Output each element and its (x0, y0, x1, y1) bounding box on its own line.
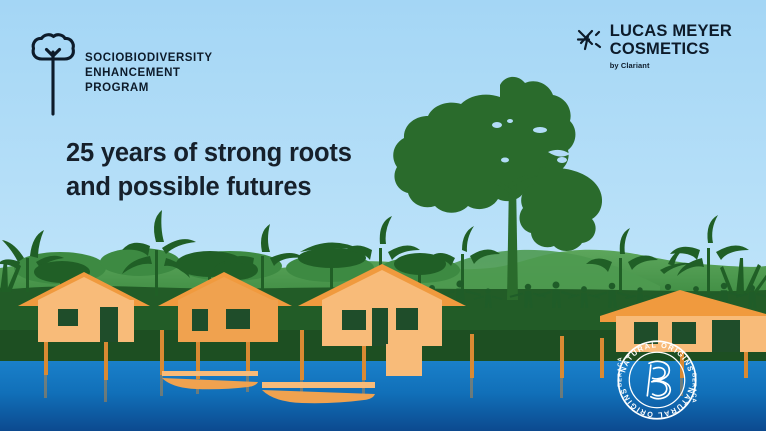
house-door (372, 308, 388, 346)
seal-bottom-text: NATURAL ORIGINS (618, 386, 695, 419)
tree-outline-icon (30, 32, 76, 121)
house-porch-column (386, 344, 422, 376)
house-door (712, 320, 740, 352)
brand-logo: LUCAS MEYER COSMETICS by Clariant (576, 22, 732, 71)
page-title: 25 years of strong roots and possible fu… (66, 136, 352, 204)
program-logo-line2: ENHANCEMENT (85, 66, 213, 81)
clariant-star-icon (576, 27, 602, 58)
house-window (58, 309, 78, 326)
program-logo: SOCIOBIODIVERSITY ENHANCEMENT PROGRAM (30, 30, 213, 121)
beraca-natural-origins-seal: NATURAL ORIGINS NATURAL ORIGINS BERACA B… (613, 336, 701, 424)
seal-left-text: BERACA (617, 356, 623, 387)
seal-right-text: BERACA (691, 373, 697, 404)
program-logo-text: SOCIOBIODIVERSITY ENHANCEMENT PROGRAM (85, 51, 213, 97)
seal-top-text: NATURAL ORIGINS (618, 340, 695, 373)
house-window (342, 310, 366, 330)
house-wall (38, 300, 134, 342)
house-window (192, 309, 208, 331)
brand-logo-text: LUCAS MEYER COSMETICS by Clariant (610, 22, 732, 71)
program-logo-line1: SOCIOBIODIVERSITY (85, 51, 213, 66)
brand-logo-line3: by Clariant (610, 61, 732, 71)
headline-line2: and possible futures (66, 170, 352, 204)
brand-logo-line1: LUCAS MEYER (610, 22, 732, 40)
brand-logo-line2: COSMETICS (610, 40, 732, 58)
house-door (100, 307, 118, 342)
seal-monogram (647, 361, 670, 398)
headline-line1: 25 years of strong roots (66, 136, 352, 170)
promotional-banner: SOCIOBIODIVERSITY ENHANCEMENT PROGRAM 25… (0, 0, 766, 431)
house-window (396, 308, 418, 330)
program-logo-line3: PROGRAM (85, 81, 213, 96)
house-window (226, 309, 250, 329)
